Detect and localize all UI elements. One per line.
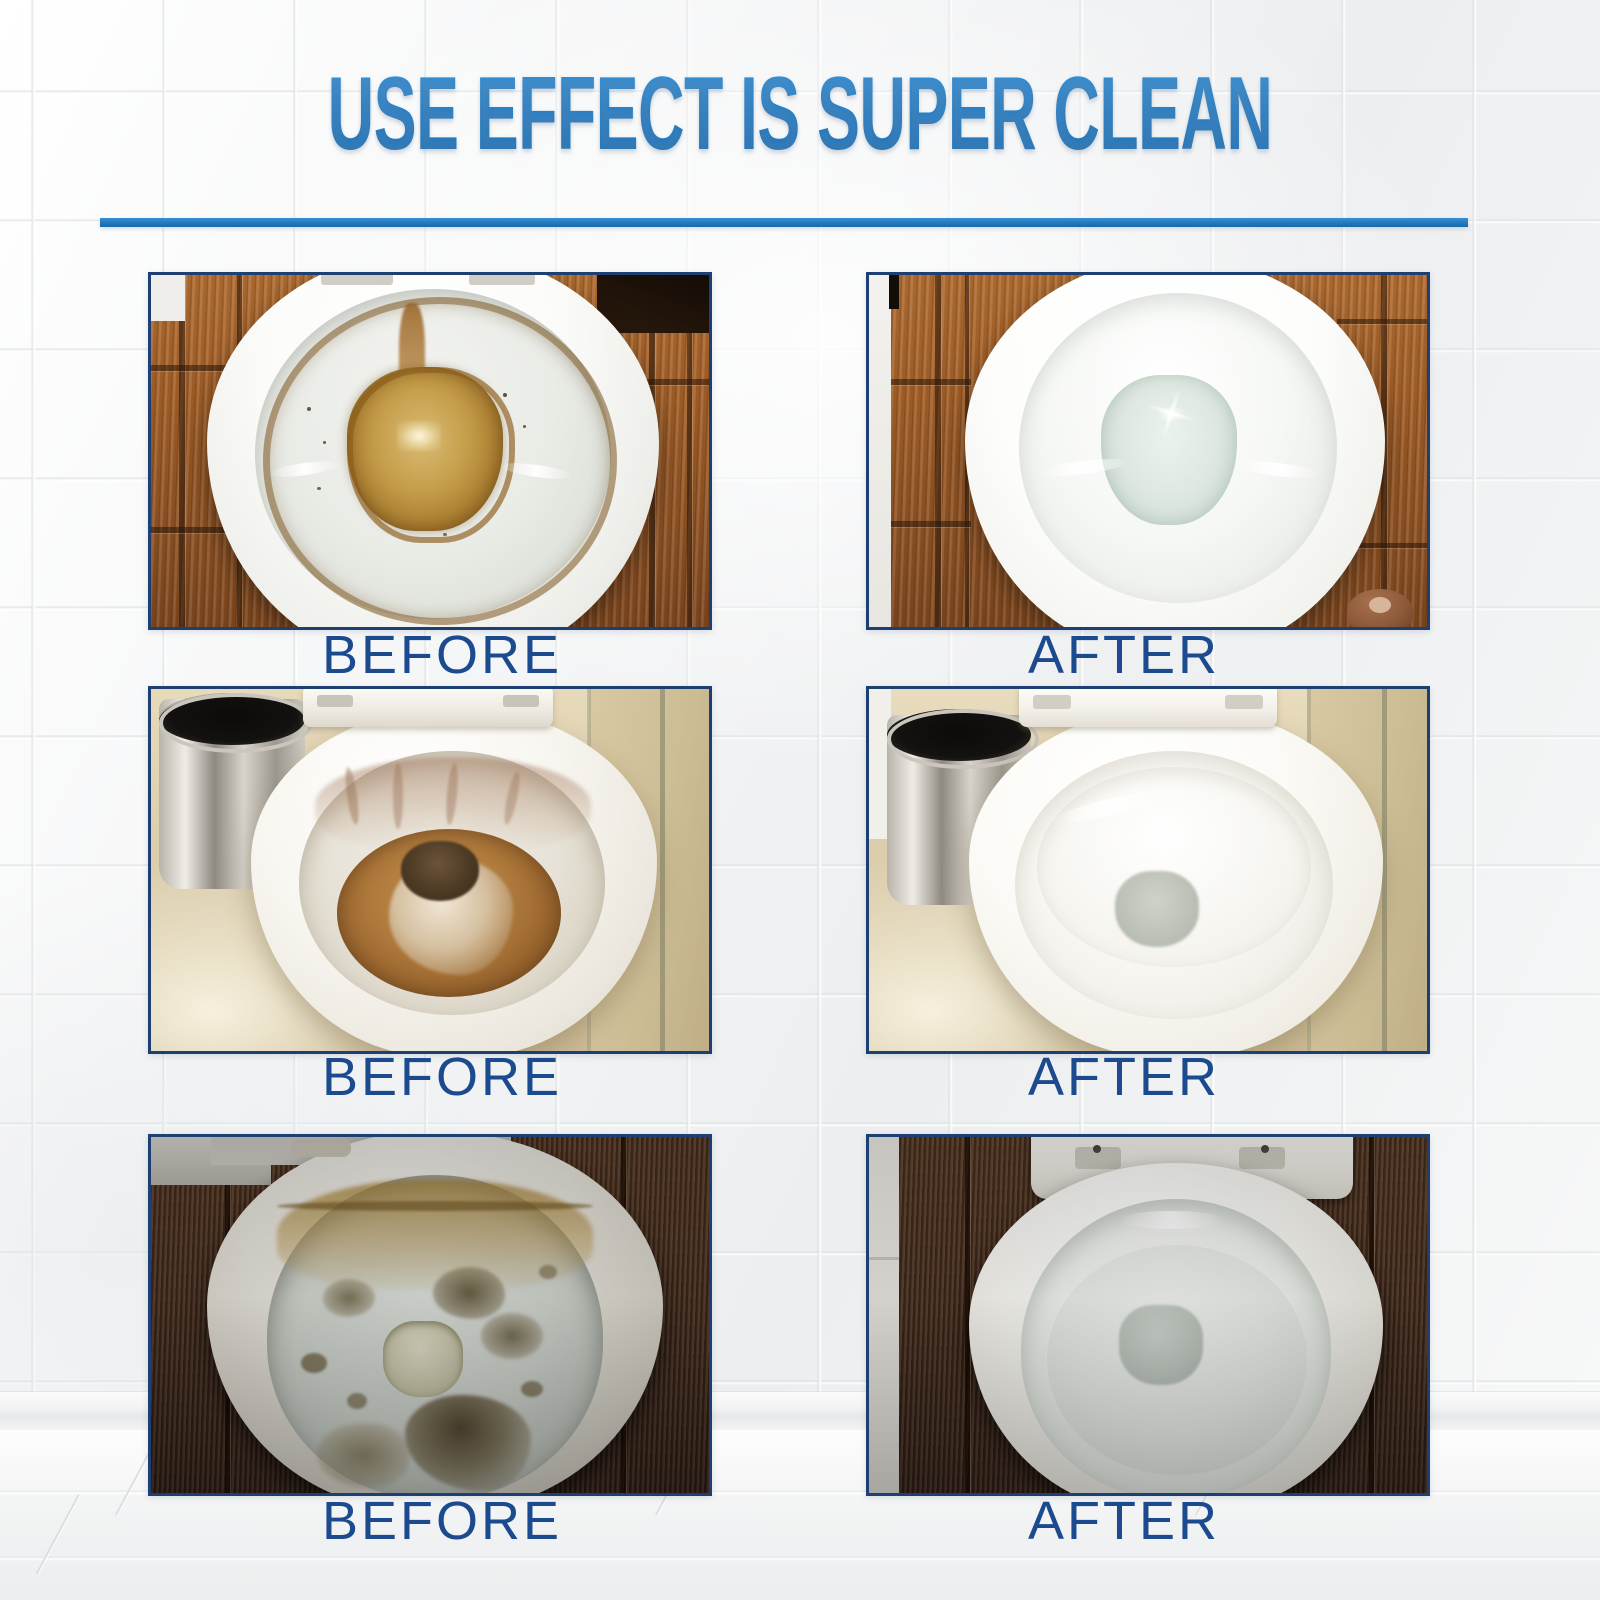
caption-after-3: AFTER (1028, 1492, 1220, 1550)
caption-before-3: BEFORE (322, 1492, 562, 1550)
debris-splatter (433, 1267, 505, 1319)
photo-before-1 (148, 272, 712, 630)
photo-after-2 (866, 686, 1430, 1054)
drain-hole (1119, 1305, 1203, 1385)
caption-after-2: AFTER (1028, 1048, 1220, 1106)
photo-after-1 (866, 272, 1430, 630)
promo-image-canvas: USE EFFECT IS SUPER CLEAN (0, 0, 1600, 1600)
photo-before-3 (148, 1134, 712, 1496)
photo-before-2 (148, 686, 712, 1054)
drain-hole (383, 1321, 463, 1397)
clean-water-pool (1101, 375, 1237, 525)
caption-before-1: BEFORE (322, 626, 562, 684)
drain-hole (401, 841, 479, 901)
title-underline-rule (100, 218, 1468, 227)
photo-after-3 (866, 1134, 1430, 1496)
drain-hole (1115, 871, 1199, 947)
caption-after-1: AFTER (1028, 626, 1220, 684)
caption-before-2: BEFORE (322, 1048, 562, 1106)
page-title: USE EFFECT IS SUPER CLEAN (304, 62, 1296, 166)
